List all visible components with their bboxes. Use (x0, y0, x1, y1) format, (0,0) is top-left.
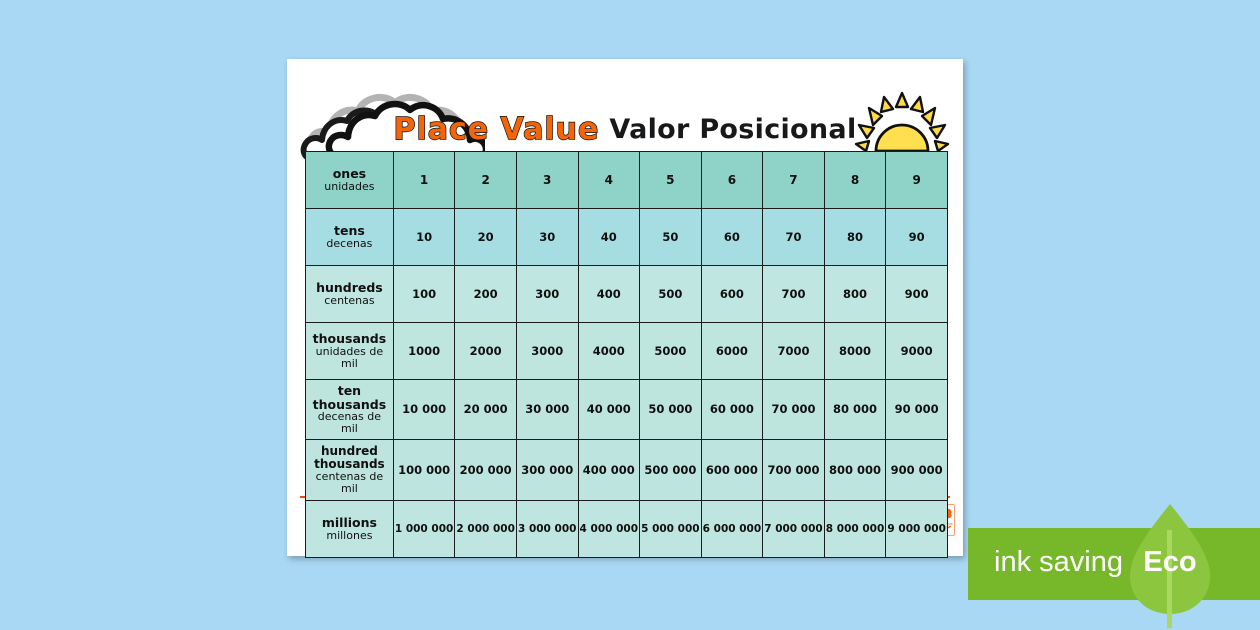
table-cell: 600 (702, 266, 763, 322)
table-row: thousands unidades de mil 1000 2000 3000… (306, 323, 947, 379)
table-cell: 8 000 000 (825, 501, 886, 557)
table-cell: 90 000 (886, 380, 947, 439)
table-cell: 40 (579, 209, 640, 265)
table-cell: 20 (455, 209, 516, 265)
page-title: Place Value Valor Posicional (287, 107, 963, 151)
row-label-en: millions (309, 516, 390, 530)
table-cell: 7 000 000 (763, 501, 824, 557)
row-label-es: decenas (309, 238, 390, 250)
table-cell: 8 (825, 152, 886, 208)
row-label-hundred-thousands: hundred thousands centenas de mil (306, 440, 393, 500)
row-label-es: unidades (309, 181, 390, 193)
table-cell: 200 (455, 266, 516, 322)
row-label-millions: millions millones (306, 501, 393, 557)
table-cell: 2000 (455, 323, 516, 379)
row-label-en: ones (309, 167, 390, 181)
row-label-ones: ones unidades (306, 152, 393, 208)
table-cell: 3 000 000 (517, 501, 578, 557)
table-cell: 1000 (394, 323, 455, 379)
table-cell: 4 000 000 (579, 501, 640, 557)
table-cell: 5000 (640, 323, 701, 379)
table-cell: 500 (640, 266, 701, 322)
row-label-tens: tens decenas (306, 209, 393, 265)
table-cell: 10 (394, 209, 455, 265)
row-label-en: ten thousands (309, 384, 390, 411)
table-cell: 7 (763, 152, 824, 208)
table-cell: 700 000 (763, 440, 824, 500)
table-cell: 5 000 000 (640, 501, 701, 557)
table-cell: 70 (763, 209, 824, 265)
table-cell: 7000 (763, 323, 824, 379)
table-row: millions millones 1 000 000 2 000 000 3 … (306, 501, 947, 557)
table-cell: 6000 (702, 323, 763, 379)
table-cell: 5 (640, 152, 701, 208)
row-label-en: hundred thousands (309, 445, 390, 471)
row-label-en: thousands (309, 332, 390, 346)
table-cell: 6 (702, 152, 763, 208)
row-label-es: unidades de mil (309, 346, 390, 370)
row-label-es: decenas de mil (309, 411, 390, 435)
ink-saving-label: ink saving (994, 546, 1123, 579)
table-cell: 80 000 (825, 380, 886, 439)
table-cell: 50 (640, 209, 701, 265)
table-cell: 400 (579, 266, 640, 322)
table-cell: 3000 (517, 323, 578, 379)
table-row: hundreds centenas 100 200 300 400 500 60… (306, 266, 947, 322)
eco-label: Eco (1136, 546, 1204, 579)
table-cell: 6 000 000 (702, 501, 763, 557)
row-label-es: centenas de mil (309, 471, 390, 495)
row-label-en: tens (309, 224, 390, 238)
table-cell: 9 000 000 (886, 501, 947, 557)
eco-badge: ink saving Eco (968, 528, 1260, 600)
row-label-en: hundreds (309, 281, 390, 295)
row-label-es: centenas (309, 295, 390, 307)
screenshot-canvas: Place Value Valor Posicional ones unidad… (0, 0, 1260, 630)
row-label-thousands: thousands unidades de mil (306, 323, 393, 379)
table-row: ten thousands decenas de mil 10 000 20 0… (306, 380, 947, 439)
place-value-table: ones unidades 1 2 3 4 5 6 7 8 9 tens (305, 151, 948, 558)
table-cell: 50 000 (640, 380, 701, 439)
table-cell: 20 000 (455, 380, 516, 439)
table-cell: 2 (455, 152, 516, 208)
table-cell: 9000 (886, 323, 947, 379)
table-cell: 4 (579, 152, 640, 208)
table-cell: 1 (394, 152, 455, 208)
table-cell: 40 000 (579, 380, 640, 439)
table-cell: 800 000 (825, 440, 886, 500)
row-label-es: millones (309, 530, 390, 542)
table-cell: 300 000 (517, 440, 578, 500)
table-cell: 500 000 (640, 440, 701, 500)
table-cell: 10 000 (394, 380, 455, 439)
table-cell: 2 000 000 (455, 501, 516, 557)
table-cell: 8000 (825, 323, 886, 379)
table-cell: 300 (517, 266, 578, 322)
row-label-ten-thousands: ten thousands decenas de mil (306, 380, 393, 439)
table-cell: 60 (702, 209, 763, 265)
table-cell: 400 000 (579, 440, 640, 500)
table-cell: 900 000 (886, 440, 947, 500)
title-english: Place Value (393, 112, 599, 147)
row-label-hundreds: hundreds centenas (306, 266, 393, 322)
table-cell: 9 (886, 152, 947, 208)
table-row: tens decenas 10 20 30 40 50 60 70 80 90 (306, 209, 947, 265)
table-cell: 800 (825, 266, 886, 322)
table-cell: 1 000 000 (394, 501, 455, 557)
title-spanish: Valor Posicional (609, 114, 856, 145)
table-cell: 30 000 (517, 380, 578, 439)
table-cell: 100 (394, 266, 455, 322)
table-cell: 700 (763, 266, 824, 322)
table-cell: 100 000 (394, 440, 455, 500)
table-cell: 200 000 (455, 440, 516, 500)
table-cell: 4000 (579, 323, 640, 379)
table-row: hundred thousands centenas de mil 100 00… (306, 440, 947, 500)
table-cell: 70 000 (763, 380, 824, 439)
table-cell: 80 (825, 209, 886, 265)
table-cell: 900 (886, 266, 947, 322)
table-cell: 60 000 (702, 380, 763, 439)
table-row: ones unidades 1 2 3 4 5 6 7 8 9 (306, 152, 947, 208)
table-cell: 90 (886, 209, 947, 265)
table-cell: 30 (517, 209, 578, 265)
worksheet-page: Place Value Valor Posicional ones unidad… (287, 59, 963, 556)
table-cell: 600 000 (702, 440, 763, 500)
table-cell: 3 (517, 152, 578, 208)
